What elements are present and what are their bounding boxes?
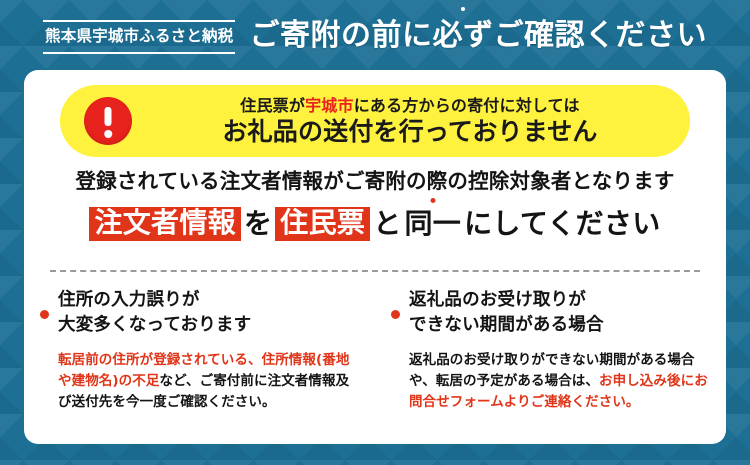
header-kicker-group: 熊本県宇城市ふるさと納税 [43, 20, 235, 55]
page-title-emphasis: 必ず [432, 18, 493, 53]
statement-block: 登録されている注文者情報がご寄附の際の控除対象者となります 注文者情報 を 住民… [24, 170, 726, 241]
note-heading-right: 返礼品のお受け取りが できない期間がある場合 [409, 288, 710, 339]
alert-line-2: お礼品の送付を行っておりません [148, 118, 672, 145]
statement-connector: を [244, 208, 272, 239]
note-heading-left-line1: 住所の入力誤りが [58, 288, 359, 313]
dashed-divider [50, 270, 700, 272]
page-title: ご寄附の前に必ずご確認ください [249, 21, 707, 51]
note-body-right: 返礼品のお受け取りができない期間がある場合や、転居の予定がある場合は、お申し込み… [409, 350, 710, 413]
alert-line1-pre: 住民票が [240, 96, 305, 115]
bouten-red-dot-icon [430, 198, 435, 203]
note-column-left: 住所の入力誤りが 大変多くなっております 転居前の住所が登録されている、住所情報… [24, 288, 375, 413]
exclamation-circle-icon [84, 97, 132, 145]
alert-banner: 住民票が宇城市にある方からの寄付に対しては お礼品の送付を行っておりません [60, 85, 690, 157]
page-title-part1: ご寄附の前に [249, 18, 432, 53]
statement-highlight-box-2: 住民票 [275, 207, 370, 241]
statement-tail-pre: と [373, 208, 401, 239]
exclamation-stem [105, 107, 112, 126]
alert-line-1: 住民票が宇城市にある方からの寄付に対しては [148, 97, 672, 114]
note-heading-left: 住所の入力誤りが 大変多くなっております [58, 288, 359, 339]
page-title-emphasis-text: 必ず [432, 18, 493, 53]
statement-main-text: 注文者情報 を 住民票 と 同一 にしてください [24, 207, 726, 241]
statement-tail-post: にしてください [464, 208, 660, 239]
note-column-right: 返礼品のお受け取りが できない期間がある場合 返礼品のお受け取りができない期間が… [375, 288, 726, 413]
notes-columns: 住所の入力誤りが 大変多くなっております 転居前の住所が登録されている、住所情報… [24, 288, 726, 413]
statement-highlight-box-1: 注文者情報 [89, 207, 241, 241]
notice-banner: 熊本県宇城市ふるさと納税 ご寄附の前に必ずご確認ください 住民票が宇城市にある方… [0, 0, 750, 465]
note-heading-right-line2: できない期間がある場合 [409, 313, 710, 338]
note-body-left: 転居前の住所が登録されている、住所情報(番地や建物名)の不足など、ご寄付前に注文… [58, 350, 359, 413]
alert-line1-post: にある方からの寄付に対しては [354, 96, 580, 115]
banner-header: 熊本県宇城市ふるさと納税 ご寄附の前に必ずご確認ください [0, 0, 750, 72]
kicker-rule-bottom [43, 52, 235, 54]
bouten-dot-icon [461, 7, 465, 11]
red-dot-icon [391, 310, 400, 319]
statement-lead-text: 登録されている注文者情報がご寄附の際の控除対象者となります [24, 170, 726, 193]
alert-line1-highlight: 宇城市 [305, 96, 354, 115]
alert-text-group: 住民票が宇城市にある方からの寄付に対しては お礼品の送付を行っておりません [148, 97, 672, 144]
note-heading-right-line1: 返礼品のお受け取りが [409, 288, 710, 313]
page-title-part2: ご確認ください [493, 18, 707, 53]
header-kicker-text: 熊本県宇城市ふるさと納税 [43, 22, 235, 53]
content-card: 住民票が宇城市にある方からの寄付に対しては お礼品の送付を行っておりません 登録… [24, 70, 726, 444]
statement-tail-emphasis-text: 同一 [405, 207, 462, 240]
red-dot-icon [40, 310, 49, 319]
exclamation-dot [104, 130, 112, 138]
statement-tail-emphasis: 同一 [405, 208, 462, 239]
note-heading-left-line2: 大変多くなっております [58, 313, 359, 338]
